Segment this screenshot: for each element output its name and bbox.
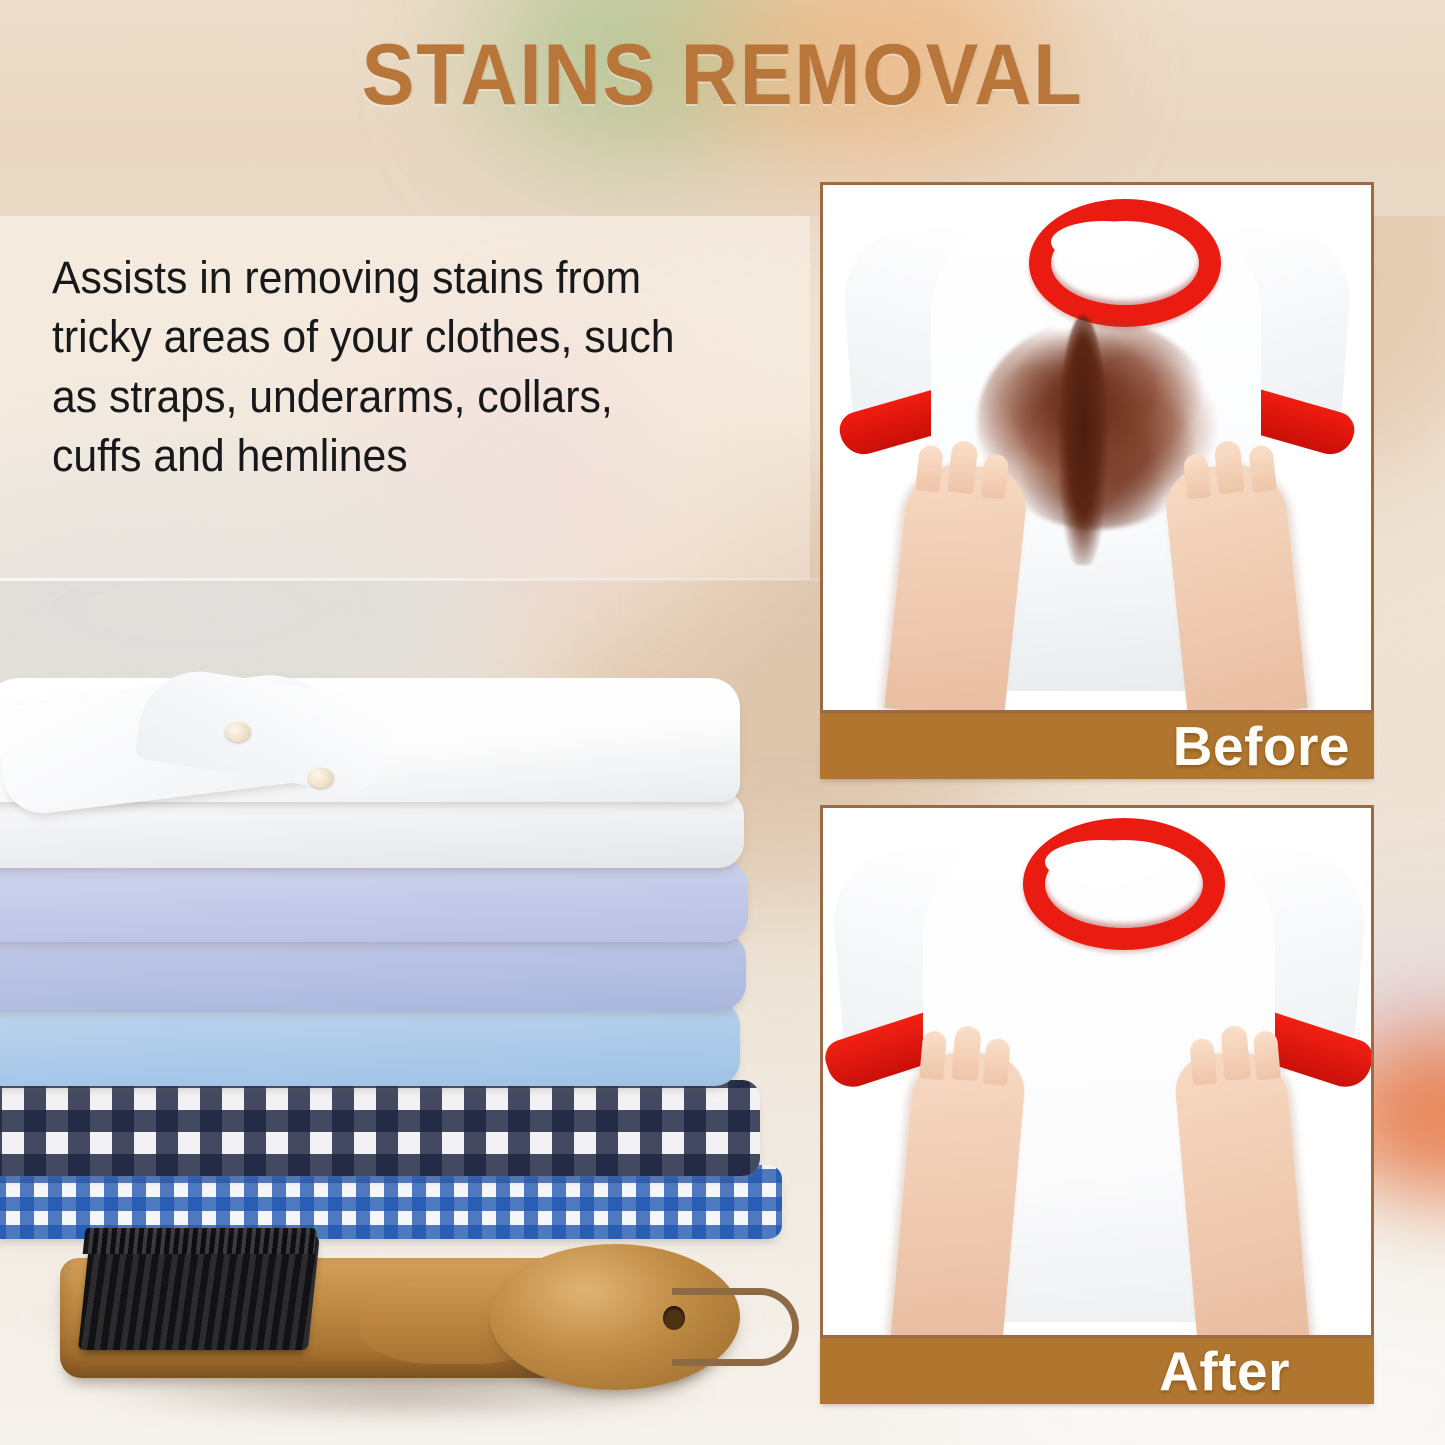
before-hand-left (884, 459, 1029, 713)
description-text: Assists in removing stains from tricky a… (52, 248, 698, 486)
after-collar-red (1023, 818, 1225, 950)
after-collar-opening (1045, 840, 1159, 884)
stain-core (1059, 315, 1107, 565)
brush-bristle-tips (83, 1228, 318, 1254)
comparison-card-after: After (820, 805, 1374, 1404)
finger (1220, 1025, 1251, 1081)
after-label-bar: After (820, 1338, 1374, 1404)
shirt-button-upper (225, 722, 251, 742)
comparison-card-before: Before (820, 182, 1374, 779)
folded-item-light-blue (0, 1000, 740, 1086)
finger (919, 1030, 947, 1080)
finger (1253, 1030, 1281, 1080)
before-label: Before (1173, 714, 1350, 778)
after-hand-right (1173, 1048, 1310, 1338)
before-photo (820, 182, 1374, 713)
finger (1189, 1038, 1217, 1086)
finger (951, 1025, 982, 1081)
folded-item-gingham-navy (0, 1080, 760, 1176)
brush-cord-hole (663, 1306, 685, 1330)
folded-clothes-stack (0, 660, 790, 1300)
clean-shirt (823, 808, 1371, 1335)
finger (915, 444, 944, 492)
before-label-bar: Before (820, 713, 1374, 779)
folded-item-lavender (0, 860, 748, 942)
folded-item-white-shirt (0, 678, 740, 802)
after-photo (820, 805, 1374, 1338)
product-infographic: STAINS REMOVAL Assists in removing stain… (0, 0, 1445, 1445)
laundry-brush (60, 1228, 760, 1418)
finger (1248, 444, 1277, 492)
finger (981, 453, 1009, 499)
after-label: After (1159, 1339, 1290, 1403)
folded-item-periwinkle (0, 932, 746, 1010)
shirt-button-lower (308, 768, 334, 788)
page-title: STAINS REMOVAL (58, 26, 1387, 125)
copy-panel-edge (0, 578, 820, 581)
finger (983, 1038, 1011, 1086)
before-collar-opening (1051, 221, 1155, 263)
before-hand-right (1162, 459, 1307, 713)
stained-shirt (823, 185, 1371, 710)
brush-leather-cord (672, 1288, 799, 1366)
finger (947, 440, 978, 494)
